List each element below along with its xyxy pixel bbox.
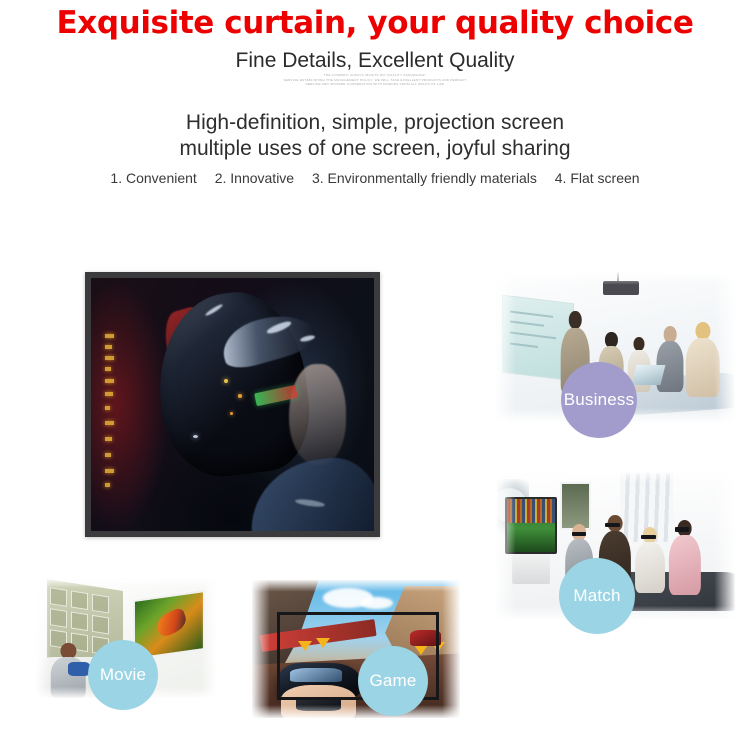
helmet-led-3 <box>230 412 233 415</box>
page-headline: Exquisite curtain, your quality choice <box>0 6 750 40</box>
3d-glasses-1 <box>572 532 586 537</box>
badge-match-label: Match <box>573 586 620 606</box>
badge-movie-label: Movie <box>100 665 146 685</box>
tv-stand <box>512 554 550 584</box>
3d-glasses-2 <box>605 523 619 528</box>
wearer-face <box>289 364 346 465</box>
feature-item-4: 4. Flat screen <box>555 170 640 186</box>
main-display-screen <box>85 272 380 537</box>
cloud-2 <box>360 597 393 609</box>
3d-glasses-4 <box>675 527 689 532</box>
feature-list: 1. Convenient 2. Innovative 3. Environme… <box>0 170 750 186</box>
laptop-on-table <box>632 365 666 385</box>
description-line-2: multiple uses of one screen, joyful shar… <box>0 136 750 162</box>
tv-crowd-stand <box>507 499 556 523</box>
product-description: High-definition, simple, projection scre… <box>0 110 750 162</box>
screen-nature-content <box>154 606 188 639</box>
direction-chevron-1 <box>298 641 312 651</box>
badge-movie[interactable]: Movie <box>88 640 158 710</box>
car-windshield <box>290 668 342 682</box>
movie-viewer-shirt-accent <box>68 662 90 676</box>
product-marketing-page: Exquisite curtain, your quality choice F… <box>0 0 750 750</box>
screen-content-cyberpunk-helmet <box>91 278 374 531</box>
badge-business[interactable]: Business <box>561 362 637 438</box>
ceiling-projector-icon <box>603 281 639 295</box>
game-controller-icon <box>296 697 342 711</box>
description-line-1: High-definition, simple, projection scre… <box>0 110 750 136</box>
scene-card-match: Match <box>495 470 735 620</box>
neon-text-column <box>105 334 117 491</box>
scene-card-game: Game <box>252 580 460 718</box>
helmet-chin-light <box>193 435 198 438</box>
room-window <box>560 482 591 530</box>
game-photo <box>252 580 460 718</box>
direction-chevron-2 <box>316 638 330 648</box>
feature-item-3: 3. Environmentally friendly materials <box>312 170 537 186</box>
opponent-car <box>410 630 441 647</box>
direction-chevron-3 <box>414 645 428 655</box>
feature-item-1: 1. Convenient <box>110 170 196 186</box>
scene-card-movie: Movie <box>36 578 216 698</box>
company-microcopy: THE COMPANY ALWAYS INSISTS ON "QUALITY A… <box>0 73 750 87</box>
microcopy-line-3: SERVICE AND SINCERE COOPERATION WITH FRI… <box>0 82 750 87</box>
badge-game-label: Game <box>369 671 416 691</box>
television-set <box>505 497 558 554</box>
scene-card-business: Business <box>495 272 735 422</box>
page-subheadline: Fine Details, Excellent Quality <box>0 48 750 74</box>
badge-game[interactable]: Game <box>358 646 428 716</box>
attendee-person-4 <box>685 322 721 397</box>
3d-glasses-3 <box>641 535 655 540</box>
badge-business-label: Business <box>564 390 635 410</box>
badge-match[interactable]: Match <box>559 558 635 634</box>
feature-item-2: 2. Innovative <box>215 170 294 186</box>
